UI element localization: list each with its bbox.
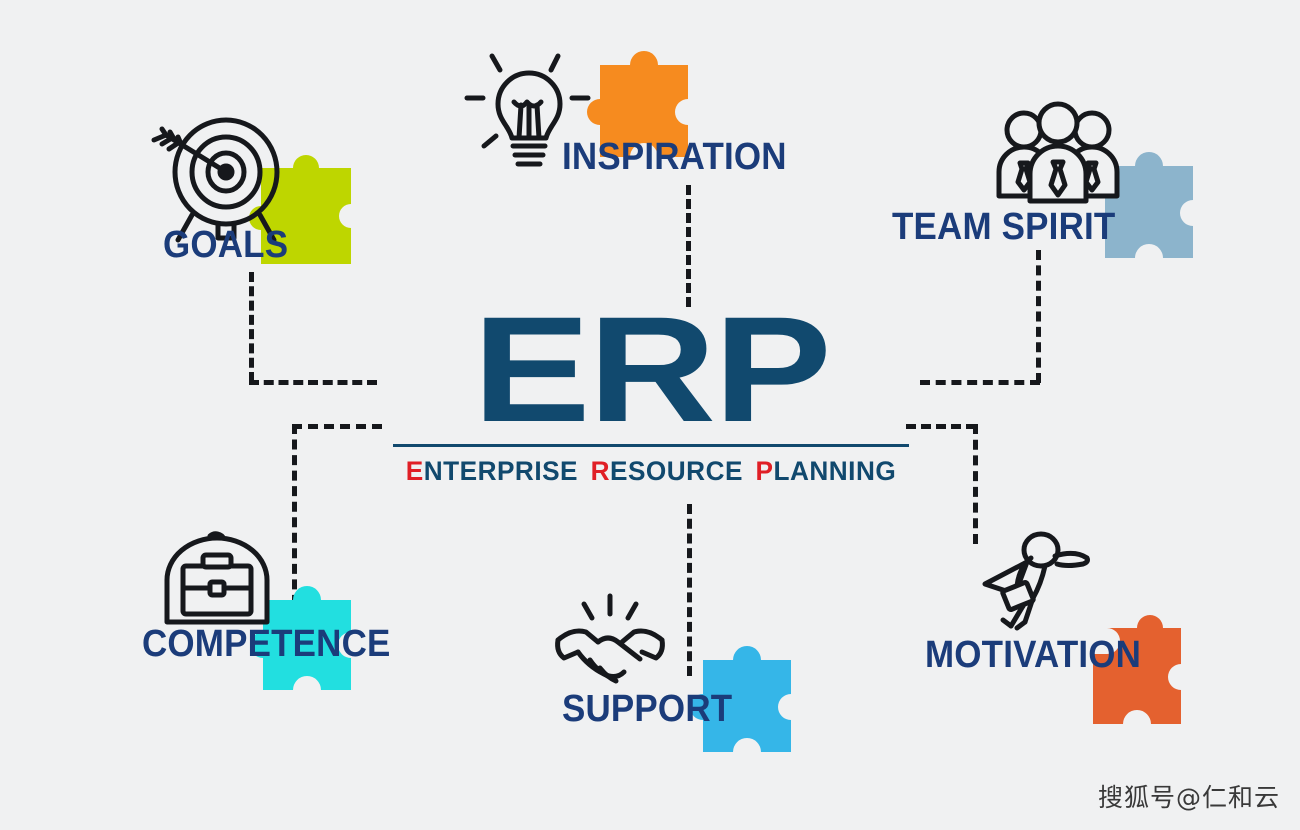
erp-sub-esource: ESOURCE [610,456,743,486]
erp-center-block: ERP ENTERPRISERESOURCEPLANNING [386,300,916,487]
erp-subtitle: ENTERPRISERESOURCEPLANNING [394,456,908,487]
connector-support-vertical [687,504,692,676]
node-label-support: SUPPORT [562,688,732,731]
node-label-inspiration: INSPIRATION [562,136,787,179]
handshake-icon [548,588,672,692]
connector-teamspirit-vertical [1036,250,1041,383]
erp-sub-r: R [591,456,610,486]
node-label-team-spirit: TEAM SPIRIT [892,206,1115,249]
erp-sub-lanning: LANNING [774,456,897,486]
watermark: 搜狐号@仁和云 [1098,778,1280,814]
erp-sub-nterprise: NTERPRISE [424,456,578,486]
briefcase-icon [155,518,279,630]
infographic-canvas: GOALS [0,0,1300,830]
node-label-motivation: MOTIVATION [925,634,1141,677]
erp-sub-p: P [756,456,774,486]
connector-goals-vertical [249,272,254,382]
page-title: ERP [338,300,963,438]
people-group-icon [995,106,1121,206]
erp-sub-e: E [406,456,424,486]
connector-motivation-vertical [973,424,978,544]
node-label-goals: GOALS [163,224,288,267]
flying-businessman-icon [975,528,1095,640]
node-label-competence: COMPETENCE [142,623,391,666]
